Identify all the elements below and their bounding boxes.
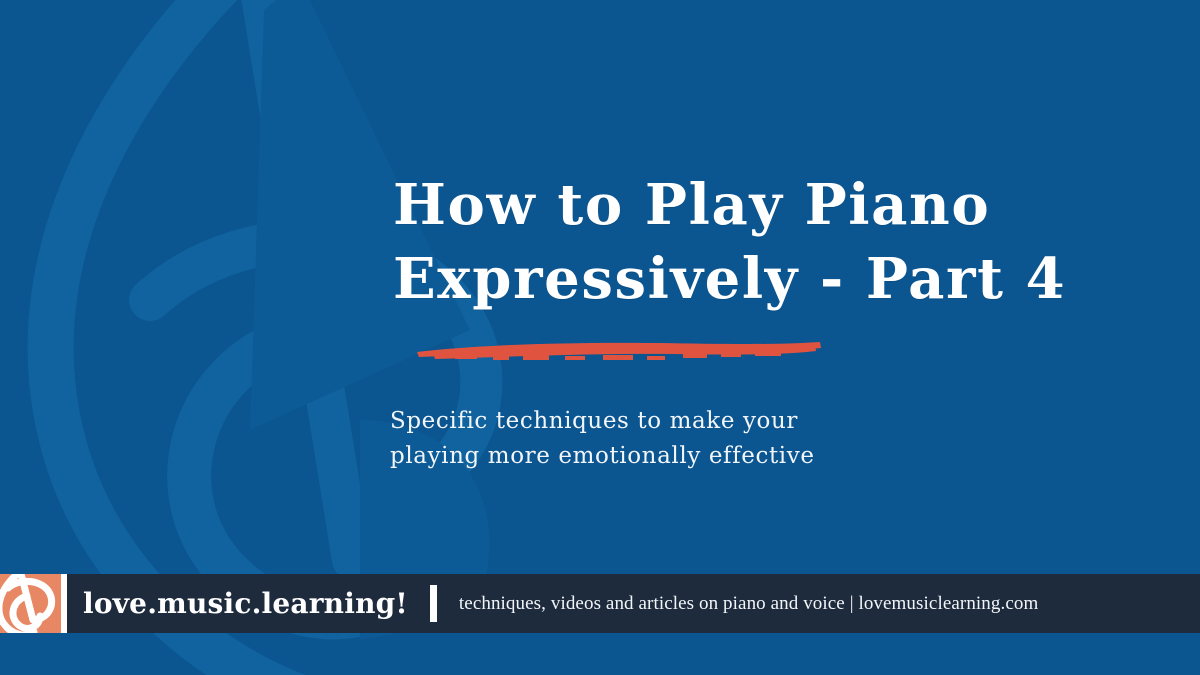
footer-tagline: techniques, videos and articles on piano…	[437, 593, 1038, 615]
brush-stroke-divider-icon	[415, 336, 825, 368]
slide-title: How to Play Piano Expressively - Part 4	[393, 168, 1183, 316]
subtitle-line-1: Specific techniques to make your	[390, 404, 1010, 439]
logo[interactable]	[0, 574, 61, 633]
slide-canvas: How to Play Piano Expressively - Part 4 …	[0, 0, 1200, 675]
footer-content: love.music.learning! techniques, videos …	[67, 574, 1200, 633]
slide-subtitle: Specific techniques to make your playing…	[390, 404, 1010, 474]
footer-bar: love.music.learning! techniques, videos …	[0, 574, 1200, 633]
subtitle-line-2: playing more emotionally effective	[390, 439, 1010, 474]
title-line-1: How to Play Piano	[393, 168, 1183, 242]
vertical-divider-icon	[430, 585, 437, 622]
brand-name: love.music.learning!	[67, 587, 408, 620]
title-line-2: Expressively - Part 4	[393, 242, 1183, 316]
treble-clef-logo-icon	[0, 574, 61, 633]
